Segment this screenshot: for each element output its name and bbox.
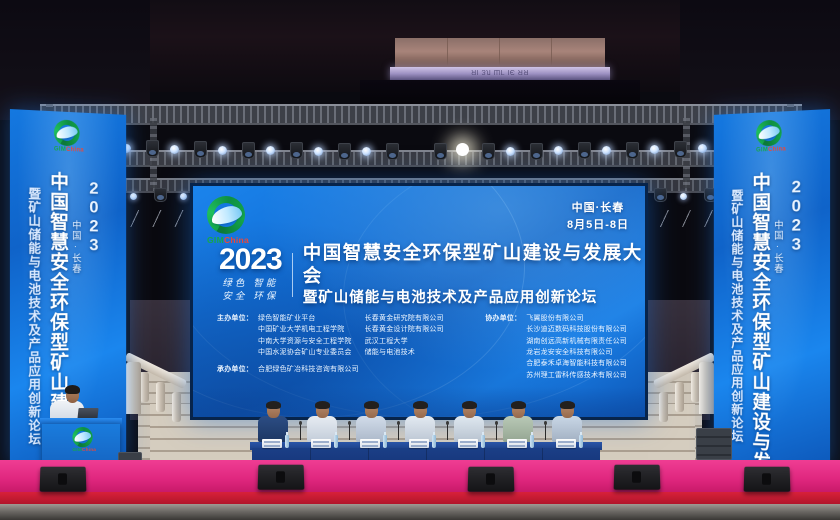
name-card	[311, 439, 331, 448]
screen-city: 中国·长春	[567, 200, 629, 217]
seated-person	[503, 403, 533, 442]
title-divider	[292, 253, 293, 297]
seated-person	[307, 403, 337, 442]
name-card	[360, 439, 380, 448]
host-list-col2: 长春黄金研究院有限公司 长春黄金设计院有限公司 武汉工程大学 储能与电池技术	[365, 313, 444, 381]
ceiling-shadow	[360, 80, 640, 106]
moving-head-light	[178, 424, 198, 446]
equipment-flight-case	[696, 428, 732, 460]
screen-date: 8月5日-8日	[567, 217, 629, 234]
main-led-screen: GIMChina 中国·长春 8月5日-8日 2023 绿色 智能 安全 环保	[190, 183, 648, 420]
name-card	[262, 439, 282, 448]
water-bottle	[432, 435, 436, 448]
banner-right-subtitle: 暨矿山储能与电池技术及产品应用创新论坛	[727, 189, 745, 444]
water-bottle	[334, 435, 338, 448]
table-microphone	[398, 424, 399, 440]
screen-sub-title: 暨矿山储能与电池技术及产品应用创新论坛	[303, 289, 645, 308]
moving-head-light	[152, 432, 172, 454]
screen-year-block: 2023 绿色 智能 安全 环保	[219, 245, 282, 304]
seated-person	[552, 403, 582, 442]
gim-logo-text: GIMChina	[72, 448, 89, 453]
moving-head-light	[204, 416, 224, 438]
gim-logo-text: GIMChina	[54, 146, 84, 153]
ceiling-beam	[395, 38, 605, 68]
seated-person	[258, 403, 288, 442]
water-bottle	[285, 435, 289, 448]
screen-gim-logo: GIMChina	[207, 196, 249, 245]
name-card	[409, 439, 429, 448]
water-bottle	[383, 435, 387, 448]
gim-logo-text: GIMChina	[756, 146, 786, 153]
banner-right-logo: GIMChina	[756, 119, 786, 153]
banner-right-title: 中国智慧安全环保型矿山建设与发展大会	[747, 172, 773, 467]
screen-city-date: 中国·长春 8月5日-8日	[567, 200, 629, 234]
ceiling-light-strip: ЯІ ЗЛ ШГ ІЄ ЯЯ	[390, 67, 610, 80]
screen-main-title: 中国智慧安全环保型矿山建设与发展大会	[303, 241, 645, 287]
water-bottle	[481, 435, 485, 448]
cohost-organizers: 协办单位： 飞翼股份有限公司 长沙迪迈数码科技股份有限公司 湖南创远高新机械有限…	[485, 313, 627, 381]
name-card	[556, 439, 576, 448]
side-banner-right: GIMChina 2023 中国·长春 中国智慧安全环保型矿山建设与发展大会 暨…	[714, 109, 830, 467]
front-stage-edge	[0, 504, 840, 520]
banner-left-year: 2023	[84, 178, 103, 254]
moving-head-light	[616, 416, 636, 438]
table-microphone	[545, 424, 546, 440]
moving-head-light	[668, 432, 688, 454]
name-card	[458, 439, 478, 448]
stage-monitor-speaker	[744, 467, 791, 492]
banner-left-subtitle: 暨矿山储能与电池技术及产品应用创新论坛	[24, 187, 43, 447]
water-bottle	[530, 435, 534, 448]
table-microphone	[300, 424, 301, 440]
conference-stage-photo: ЯІ ЗЛ ШГ ІЄ ЯЯ	[0, 0, 840, 520]
podium-logo: GIMChina	[70, 427, 92, 460]
water-bottle	[579, 435, 583, 448]
hall-wall-left	[0, 0, 150, 120]
seated-person	[405, 403, 435, 442]
banner-left-logo: GIMChina	[54, 119, 84, 153]
banner-right-year: 2023	[786, 177, 806, 254]
moving-head-light	[642, 424, 662, 446]
table-microphone	[349, 424, 350, 440]
cohost-label: 协办单位：	[485, 313, 521, 381]
undertaker-label: 承办单位：	[217, 364, 253, 374]
name-card	[507, 439, 527, 448]
screen-title-block: 中国智慧安全环保型矿山建设与发展大会 暨矿山储能与电池技术及产品应用创新论坛	[303, 241, 645, 308]
table-microphone	[447, 424, 448, 440]
stage-carpet	[0, 460, 840, 494]
screen-year: 2023	[219, 245, 282, 275]
undertaker-value: 合肥绿色矿冶科技咨询有限公司	[258, 364, 359, 374]
table-microphone	[496, 424, 497, 440]
hall-wall-right	[680, 0, 840, 120]
screen-title-row: 2023 绿色 智能 安全 环保 中国智慧安全环保型矿山建设与发展大会 暨矿山储…	[219, 241, 645, 308]
stage-monitor-speaker	[40, 467, 87, 492]
stage-monitor-speaker	[614, 465, 661, 490]
cohost-list: 飞翼股份有限公司 长沙迪迈数码科技股份有限公司 湖南创远高新机械有限责任公司 龙…	[526, 313, 627, 381]
seated-person	[454, 403, 484, 442]
ceiling-strip-text: ЯІ ЗЛ ШГ ІЄ ЯЯ	[390, 68, 610, 75]
stage-monitor-speaker	[468, 467, 515, 492]
seated-person	[356, 403, 386, 442]
screen-year-tagline: 绿色 智能 安全 环保	[219, 278, 282, 304]
screen-undertaker: 承办单位： 合肥绿色矿冶科技咨询有限公司	[217, 364, 359, 374]
stage-monitor-speaker	[258, 465, 305, 490]
